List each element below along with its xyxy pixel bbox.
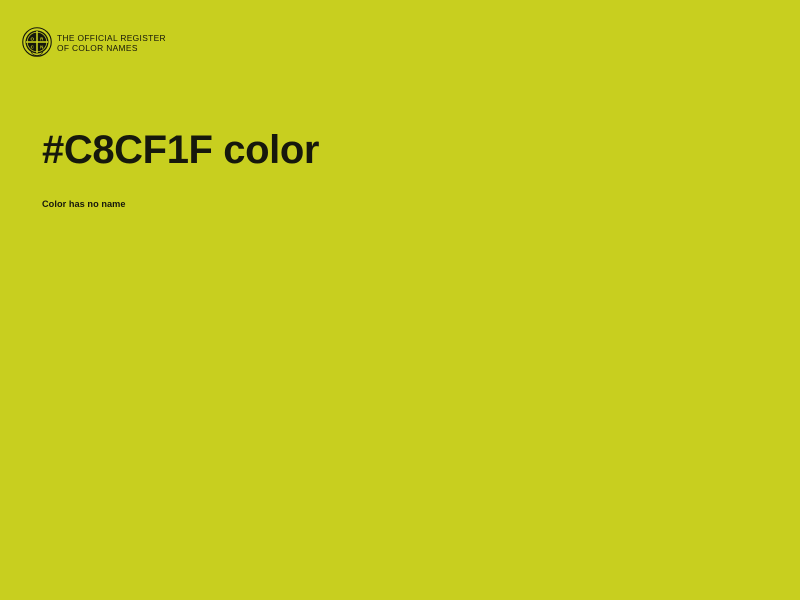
svg-text:N: N [40, 45, 43, 50]
svg-text:O: O [30, 36, 34, 41]
color-name-status: Color has no name [42, 172, 762, 210]
brand-line-1: THE OFFICIAL REGISTER [57, 33, 166, 43]
color-info: #C8CF1F color Color has no name [42, 128, 762, 210]
brand-line-2: OF COLOR NAMES [57, 43, 166, 53]
official-register-seal-icon: O R C N [22, 27, 52, 57]
brand-name: THE OFFICIAL REGISTER OF COLOR NAMES [57, 33, 166, 53]
color-page: O R C N THE OFFICIAL REGISTER OF COLOR N… [0, 0, 800, 600]
page-title: #C8CF1F color [42, 128, 762, 172]
brand-lockup[interactable]: O R C N THE OFFICIAL REGISTER OF COLOR N… [22, 27, 166, 57]
